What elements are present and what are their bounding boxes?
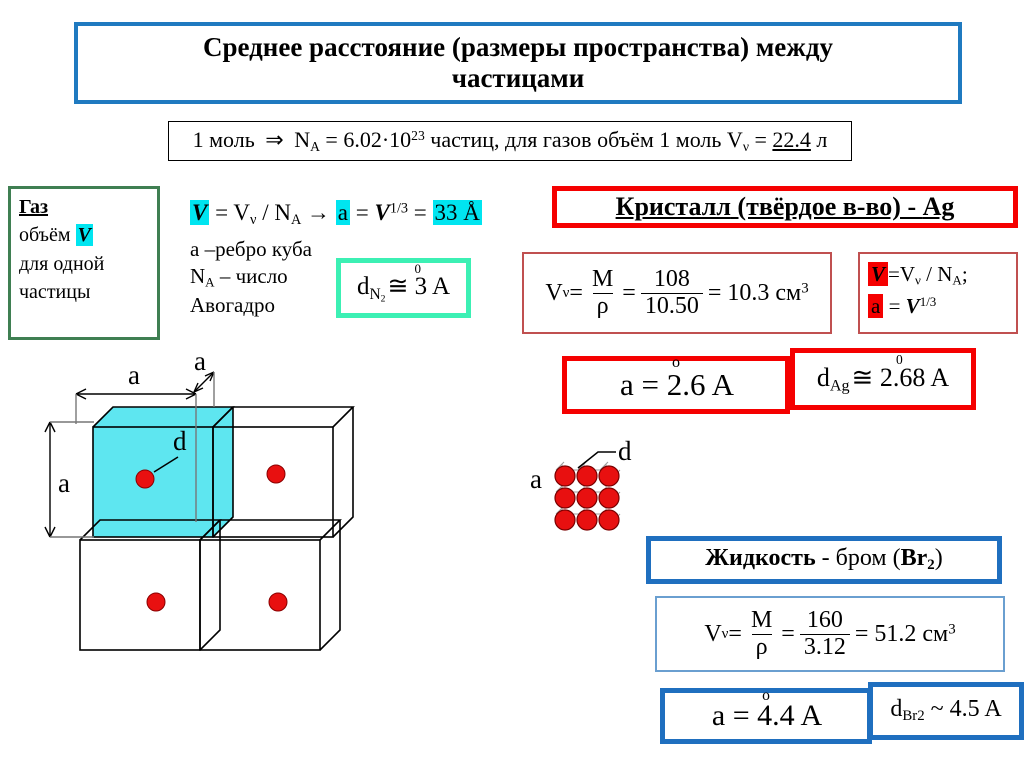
- highlighted-cell-top-face: [93, 407, 233, 427]
- br-vol-lhs-sub: ν: [722, 626, 729, 643]
- definition-edge: a –ребро куба: [190, 236, 312, 263]
- br-vol-num-2: 160: [803, 608, 847, 633]
- dn2-value: ≅ 3 A: [387, 273, 450, 300]
- silver-v-rest-2: / N: [921, 262, 953, 286]
- gas-volume-label: объём: [19, 224, 76, 246]
- slide-root: Среднее расстояние (размеры пространства…: [0, 0, 1024, 767]
- liquid-header-main: Жидкость: [705, 545, 815, 571]
- silver-molar-volume-box: Vν = M ρ = 108 10.50 = 10.3 см3: [522, 252, 832, 334]
- silver-v-symbol: V: [868, 262, 888, 286]
- avogadro-symbol: N: [294, 127, 310, 152]
- eq-volume-rest-1: = V: [209, 200, 250, 225]
- silver-v-rest-1: =V: [888, 262, 915, 286]
- gas-definitions-text: a –ребро куба NA – число Авогадро: [190, 236, 312, 319]
- gas-volume-line: объём V: [19, 221, 149, 249]
- br-vol-num-1: M: [747, 608, 776, 633]
- gas-line-2: для одной: [19, 250, 149, 278]
- particle-bottom-left: [147, 593, 165, 611]
- particle-top-left: [136, 470, 154, 488]
- angstrom-ring-icon: o: [672, 355, 680, 371]
- eq-volume-symbol: V: [190, 200, 209, 225]
- eq-equals-2: =: [408, 200, 432, 225]
- silver-a-exponent: 1/3: [920, 294, 937, 309]
- silver-volume-per-particle: V=Vν / NA;: [868, 259, 1008, 291]
- liquid-header-br-sub: 2: [927, 558, 934, 574]
- dbr-d-symbol: d: [890, 696, 902, 722]
- page-title: Среднее расстояние (размеры пространства…: [74, 22, 962, 104]
- mole-middle-text: частиц, для газов объём 1 моль V: [430, 127, 743, 152]
- br-vol-result-exponent: 3: [948, 621, 955, 637]
- crystal-header-element: Ag: [923, 192, 955, 221]
- br-vol-den-1: ρ: [752, 634, 772, 660]
- silver-formula-box: V=Vν / NA; a = V1/3: [858, 252, 1018, 334]
- eq-edge-symbol: a: [336, 200, 350, 225]
- ag-vol-lhs: V: [545, 280, 562, 307]
- dbr-subscript: Br2: [902, 709, 924, 725]
- cube-label-a-top: a: [128, 360, 140, 390]
- ag-vol-eq-1: =: [569, 280, 583, 307]
- liquid-header-br: Br: [901, 545, 928, 571]
- br-vol-fraction-symbolic: M ρ: [747, 608, 776, 659]
- dag-d-symbol: d: [817, 363, 830, 392]
- dag-subscript: Ag: [830, 377, 850, 394]
- avogadro-subscript: A: [310, 139, 320, 154]
- dag-value: ≅ 2.68 A: [852, 363, 950, 392]
- cube-lattice-diagram: d a a a: [18, 352, 358, 672]
- gas-heading: Газ: [19, 193, 149, 221]
- ag-vol-lhs-sub: ν: [563, 285, 570, 302]
- cube-label-a-diagonal: a: [194, 352, 206, 376]
- particle-top-right: [267, 465, 285, 483]
- silver-v-sub-2: A: [952, 273, 961, 288]
- ag-vol-result: = 10.3 см: [708, 280, 801, 306]
- definition-avogadro: NA – число: [190, 263, 312, 292]
- dn2-sub-n: N: [369, 286, 380, 303]
- definition-na-symbol: N: [190, 264, 205, 288]
- molar-volume-subscript: ν: [743, 139, 749, 154]
- silver-a-volume: V: [906, 294, 920, 318]
- gas-volume-symbol: V: [76, 224, 93, 246]
- bromine-molar-volume-box: Vν = M ρ = 160 3.12 = 51.2 см3: [655, 596, 1005, 672]
- crystal-lattice-diagram: d a: [520, 432, 700, 550]
- molar-volume-value: 22.4: [772, 127, 811, 152]
- eq-cube-root-exponent: 1/3: [390, 201, 408, 217]
- molar-volume-unit: л: [811, 127, 827, 152]
- eq-volume-rest-2: / N: [256, 200, 291, 225]
- bromine-diameter-box: dBr2 ~ 4.5 A: [868, 682, 1024, 740]
- ag-vol-num-2: 108: [650, 267, 694, 292]
- angstrom-ring-icon: 0: [896, 353, 903, 367]
- bromine-edge-result: a = 4.4 A: [712, 699, 822, 732]
- liquid-header-close: ): [935, 545, 943, 571]
- gas-line-3: частицы: [19, 278, 149, 306]
- avogadro-exponent: 23: [411, 128, 425, 143]
- silver-edge-result-box: oa = 2.6 A: [562, 356, 790, 414]
- title-line-1: Среднее расстояние (размеры пространства…: [203, 32, 833, 62]
- dimension-arrow-diagonal: [194, 372, 214, 407]
- ag-vol-result-exponent: 3: [801, 280, 808, 296]
- br-vol-den-2: 3.12: [800, 634, 850, 660]
- dbr-value: ~ 4.5 A: [925, 696, 1002, 722]
- implies-icon: ⇒: [265, 127, 283, 152]
- eq-gas-result: 33 Å: [433, 200, 482, 225]
- br-vol-eq-1: =: [728, 621, 742, 648]
- eq-volume-symbol-2: V: [374, 200, 389, 225]
- definition-na-subscript: A: [205, 275, 214, 290]
- crystal-header-rest: (твёрдое в-во) -: [731, 192, 923, 221]
- liquid-header-rest: - бром (: [816, 545, 901, 571]
- avogadro-equals: = 6.02·10: [325, 127, 411, 152]
- gas-info-box: Газ объём V для одной частицы: [8, 186, 160, 340]
- definition-na-rest: – число: [215, 264, 288, 288]
- particle-bottom-right: [269, 593, 287, 611]
- molar-volume-equals: =: [754, 127, 772, 152]
- mole-statement-box: 1 моль ⇒ NA = 6.02·1023 частиц, для газо…: [168, 121, 852, 161]
- dn2-subscript: N2: [369, 286, 385, 303]
- crystal-section-header: Кристалл (твёрдое в-во) - Ag: [552, 186, 1018, 228]
- angstrom-ring-icon: o: [762, 688, 770, 704]
- ag-vol-fraction-numeric: 108 10.50: [641, 267, 703, 318]
- ag-vol-num-1: M: [588, 267, 617, 292]
- arrow-right-icon: →: [301, 200, 336, 225]
- cube-label-a-left: a: [58, 468, 70, 498]
- br-vol-eq-2: =: [781, 621, 795, 648]
- br-vol-fraction-numeric: 160 3.12: [800, 608, 850, 659]
- silver-diameter-box: dAg0 ≅ 2.68 A: [790, 348, 976, 410]
- silver-a-symbol: a: [868, 294, 883, 318]
- bromine-edge-result-box: oa = 4.4 A: [660, 688, 872, 744]
- nitrogen-diameter-box: dN20 ≅ 3 A: [336, 258, 471, 318]
- gas-edge-equation: V = Vν / NA → a = V1/3 = 33 Å: [190, 200, 482, 229]
- silver-edge-result: a = 2.6 A: [620, 367, 734, 402]
- br-vol-result: = 51.2 см: [855, 621, 948, 647]
- silver-a-equals: =: [883, 294, 905, 318]
- eq-equals-1: =: [350, 200, 374, 225]
- cube-label-d: d: [173, 426, 187, 456]
- silver-v-semicolon: ;: [962, 262, 968, 286]
- lattice-particles: [555, 466, 619, 530]
- silver-edge-formula: a = V1/3: [868, 291, 1008, 321]
- angstrom-ring-icon: 0: [415, 262, 422, 275]
- definition-avogadro-2: Авогадро: [190, 292, 312, 319]
- ag-vol-eq-2: =: [622, 280, 636, 307]
- ag-vol-fraction-symbolic: M ρ: [588, 267, 617, 318]
- ag-vol-den-1: ρ: [593, 293, 613, 319]
- lattice-label-d: d: [618, 436, 632, 466]
- lattice-label-a: a: [530, 464, 542, 494]
- br-vol-lhs: V: [704, 621, 721, 648]
- mole-prefix: 1 моль: [193, 127, 255, 152]
- eq-a-subscript: A: [291, 212, 301, 228]
- dn2-d-symbol: d: [357, 273, 370, 300]
- crystal-header-main: Кристалл: [616, 192, 731, 221]
- title-line-2: частицами: [452, 63, 585, 93]
- ag-vol-den-2: 10.50: [641, 293, 703, 319]
